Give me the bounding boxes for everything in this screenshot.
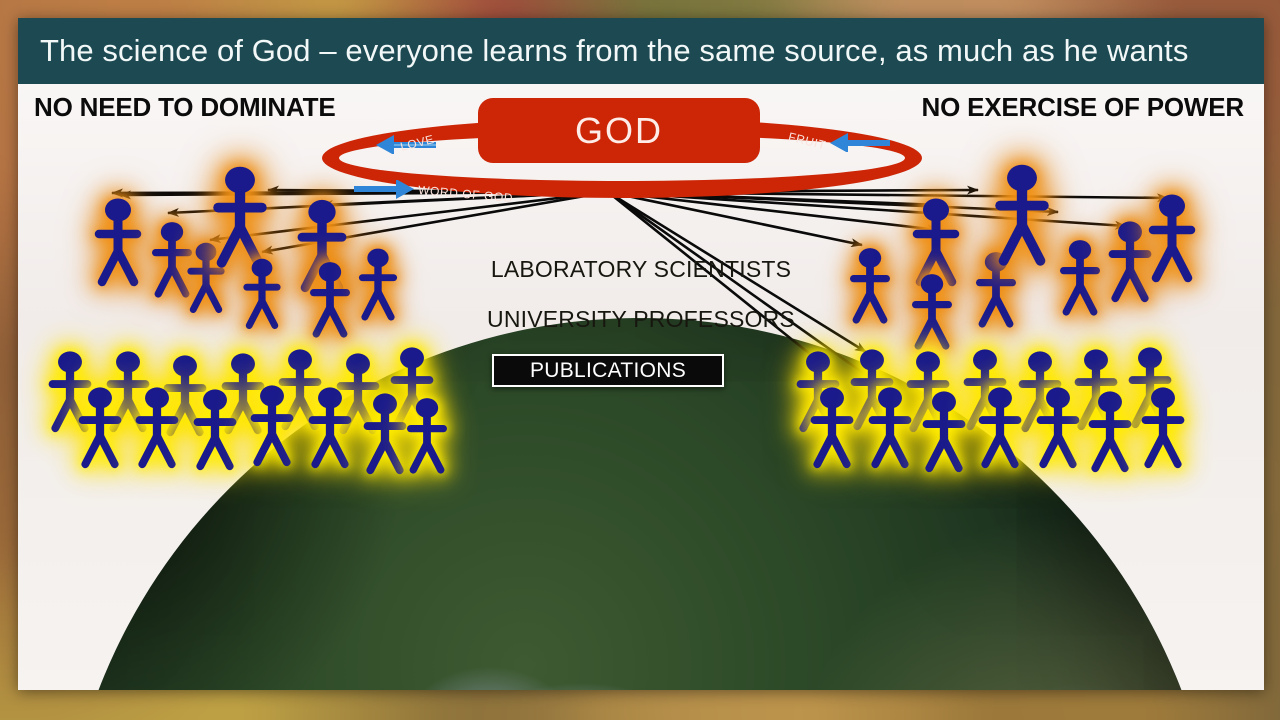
- page-title: The science of God – everyone learns fro…: [18, 33, 1188, 69]
- label-laboratory-scientists: LABORATORY SCIENTISTS: [18, 256, 1264, 283]
- word-of-god-arrow-icon: [352, 180, 418, 202]
- label-university-professors: UNIVERSITY PROFESSORS: [18, 306, 1264, 333]
- label-publications: PUBLICATIONS: [530, 359, 686, 383]
- heading-no-need-to-dominate: NO NEED TO DOMINATE: [34, 92, 335, 123]
- presentation-slide: The science of God – everyone learns fro…: [18, 18, 1264, 690]
- god-source-group: LOVE FRUIT WORD OF GOD GOD: [318, 98, 938, 208]
- publications-box: PUBLICATIONS: [492, 354, 724, 387]
- god-label: GOD: [575, 110, 663, 152]
- person-icon: [1041, 387, 1076, 464]
- person-icon: [1000, 165, 1044, 261]
- person-icon: [873, 387, 908, 464]
- slide-title-bar: The science of God – everyone learns fro…: [18, 18, 1264, 84]
- heading-no-exercise-of-power: NO EXERCISE OF POWER: [922, 92, 1245, 123]
- person-icon: [218, 167, 262, 263]
- slide-canvas: The science of God – everyone learns fro…: [18, 18, 1264, 690]
- god-plaque: GOD: [478, 98, 760, 163]
- fruit-arrow-icon: [826, 130, 892, 152]
